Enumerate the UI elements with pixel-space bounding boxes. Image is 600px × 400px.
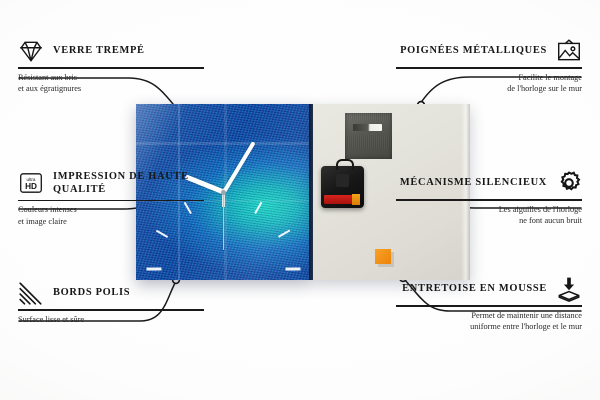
diamond-icon (18, 38, 44, 64)
feature-silent-mechanism: MÉCANISME SILENCIEUX Les aiguilles de l'… (396, 170, 582, 226)
mechanism-battery-contact (352, 194, 360, 205)
clock-minute-hand (222, 141, 255, 193)
tick-10 (156, 229, 168, 238)
feature-description: Permet de maintenir une distance uniform… (396, 310, 582, 333)
feature-divider (396, 305, 582, 307)
mechanism-hanging-loop (336, 159, 354, 170)
feature-divider (396, 67, 582, 69)
metal-hanger-plate (345, 113, 392, 159)
feature-description: Les aiguilles de l'horloge ne font aucun… (396, 204, 582, 227)
mechanism-shaft-housing (336, 174, 349, 187)
tick-1 (254, 202, 263, 214)
mechanism-battery (324, 195, 354, 204)
foam-spacer-icon (556, 276, 582, 302)
tick-2 (278, 229, 290, 238)
tick-3 (286, 268, 301, 271)
svg-text:HD: HD (25, 182, 37, 191)
feature-metal-handles: POIGNÉES MÉTALLIQUES Facilite le montage… (396, 38, 582, 94)
feature-description: Surface lisse et sûre (18, 314, 204, 325)
feature-high-quality-print: ultra HD IMPRESSION DE HAUTE QUALITÉ Cou… (18, 170, 204, 227)
clock-second-hand (223, 188, 225, 250)
polished-edges-icon (18, 280, 44, 306)
clock-mechanism (321, 166, 364, 208)
feature-title: POIGNÉES MÉTALLIQUES (400, 44, 547, 57)
feature-title: IMPRESSION DE HAUTE QUALITÉ (53, 170, 204, 197)
picture-hanger-icon (556, 38, 582, 64)
feature-divider (18, 309, 204, 311)
feature-tempered-glass: VERRE TREMPÉ Résistant aux bris et aux é… (18, 38, 204, 94)
tick-12 (222, 192, 225, 207)
feature-title: BORDS POLIS (53, 286, 130, 299)
feature-title: MÉCANISME SILENCIEUX (400, 176, 547, 189)
ultra-hd-icon: ultra HD (18, 170, 44, 196)
gear-icon (556, 170, 582, 196)
clock-center-cap (221, 190, 226, 195)
foam-spacer-pad (375, 249, 391, 264)
feature-divider (18, 67, 204, 69)
feature-description: Facilite le montage de l'horloge sur le … (396, 72, 582, 95)
feature-foam-spacer: ENTRETOISE EN MOUSSE Permet de maintenir… (396, 276, 582, 332)
product-feature-infographic: VERRE TREMPÉ Résistant aux bris et aux é… (0, 0, 600, 400)
feature-description: Résistant aux bris et aux égratignures (18, 72, 204, 95)
hanger-slot (353, 124, 382, 131)
feature-divider (18, 200, 204, 202)
feature-polished-edges: BORDS POLIS Surface lisse et sûre (18, 280, 204, 325)
feature-title: VERRE TREMPÉ (53, 44, 145, 57)
feature-divider (396, 199, 582, 201)
tick-9 (147, 268, 162, 271)
feature-title: ENTRETOISE EN MOUSSE (402, 282, 547, 295)
feature-description: Couleurs intenses et image claire (18, 204, 204, 227)
